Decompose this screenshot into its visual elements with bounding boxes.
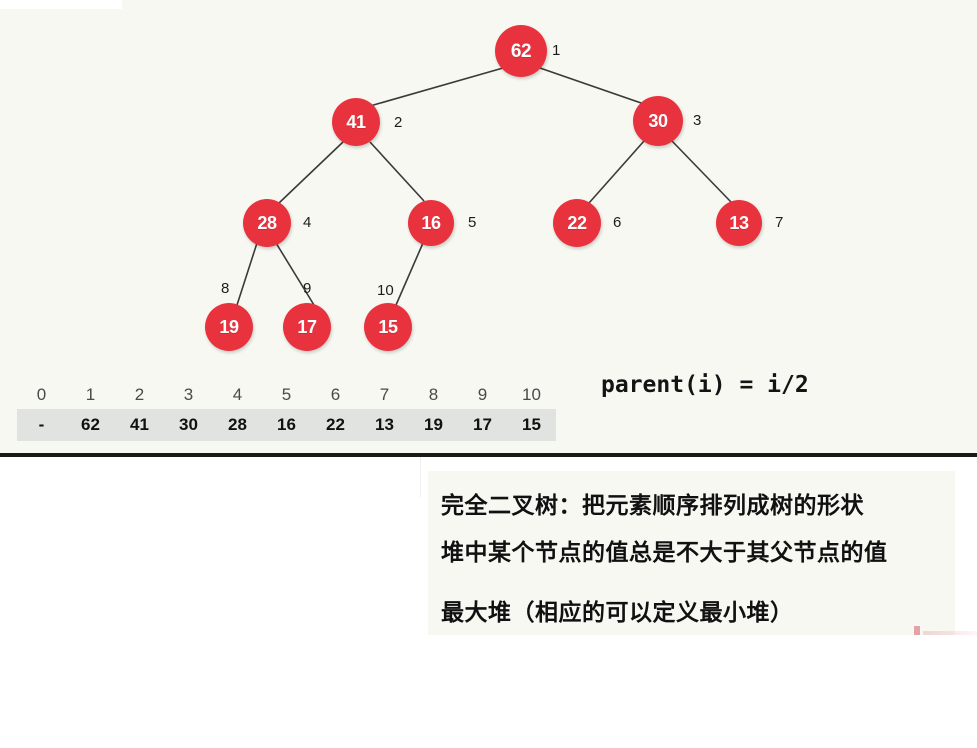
- array-index-cell: 2: [115, 385, 164, 405]
- tree-edge: [672, 141, 731, 202]
- tree-node-index-label: 10: [377, 282, 394, 299]
- note-line-max-heap: 最大堆（相应的可以定义最小堆）: [441, 593, 794, 627]
- tree-node-index-label: 2: [394, 114, 402, 131]
- array-value-cell: 30: [164, 415, 213, 435]
- tree-node: 19: [205, 303, 253, 351]
- tree-node-index-label: 3: [693, 112, 701, 129]
- tree-node-value: 28: [257, 214, 276, 232]
- array-value-cell: 22: [311, 415, 360, 435]
- array-value-cell: 16: [262, 415, 311, 435]
- tree-node: 41: [332, 98, 380, 146]
- tree-node-index-label: 4: [303, 214, 311, 231]
- array-index-cell: 7: [360, 385, 409, 405]
- tree-node-index-label: 8: [221, 280, 229, 297]
- note-line-complete-binary-tree: 完全二叉树：把元素顺序排列成树的形状: [441, 486, 864, 520]
- array-index-cell: 8: [409, 385, 458, 405]
- array-index-cell: 10: [507, 385, 556, 405]
- tree-node-value: 15: [378, 318, 397, 336]
- tree-edge: [396, 243, 423, 305]
- binary-tree-diagram: 6214123032841652261371981791510: [0, 0, 977, 375]
- tree-edge: [540, 68, 644, 104]
- array-index-cell: 9: [458, 385, 507, 405]
- array-index-row: 012345678910: [17, 381, 556, 409]
- array-index-cell: 4: [213, 385, 262, 405]
- tree-node-value: 22: [567, 214, 586, 232]
- formula-parent: parent(i) = i/2: [601, 374, 947, 397]
- tree-node: 30: [633, 96, 683, 146]
- note-line-heap-property: 堆中某个节点的值总是不大于其父节点的值: [441, 533, 888, 567]
- tree-edge: [237, 243, 257, 305]
- tree-node-value: 30: [648, 112, 667, 130]
- array-index-cell: 1: [66, 385, 115, 405]
- tree-node-value: 62: [511, 42, 531, 61]
- array-value-cell: 28: [213, 415, 262, 435]
- tree-edge: [589, 141, 644, 203]
- tree-node: 16: [408, 200, 454, 246]
- array-index-cell: 5: [262, 385, 311, 405]
- faint-smudge-mark: [923, 631, 977, 635]
- tree-node-index-label: 1: [552, 42, 560, 59]
- array-value-cell: 15: [507, 415, 556, 435]
- tree-edge: [370, 142, 424, 201]
- tree-node-value: 19: [219, 318, 238, 336]
- slide-region: 6214123032841652261371981791510 01234567…: [0, 0, 977, 455]
- tree-node-index-label: 7: [775, 214, 783, 231]
- array-value-row: -62413028162213191715: [17, 409, 556, 441]
- tree-edge: [279, 142, 343, 203]
- tree-node-value: 16: [421, 214, 440, 232]
- array-value-cell: 19: [409, 415, 458, 435]
- note-divider: [420, 457, 421, 497]
- tree-node-value: 13: [729, 214, 748, 232]
- definition-note-box: 完全二叉树：把元素顺序排列成树的形状 堆中某个节点的值总是不大于其父节点的值 最…: [428, 471, 955, 635]
- tree-node: 15: [364, 303, 412, 351]
- tree-node-value: 41: [346, 113, 365, 131]
- tree-node: 17: [283, 303, 331, 351]
- tree-node-index-label: 9: [303, 280, 311, 297]
- tree-node: 28: [243, 199, 291, 247]
- array-value-cell: 62: [66, 415, 115, 435]
- note-region: 完全二叉树：把元素顺序排列成树的形状 堆中某个节点的值总是不大于其父节点的值 最…: [0, 457, 977, 748]
- array-index-cell: 6: [311, 385, 360, 405]
- tree-node: 13: [716, 200, 762, 246]
- red-annotation-mark: [914, 626, 920, 635]
- array-representation-table: 012345678910 -62413028162213191715: [17, 381, 556, 441]
- array-value-cell: -: [17, 415, 66, 435]
- array-value-cell: 17: [458, 415, 507, 435]
- tree-edges-layer: [0, 0, 977, 375]
- tree-node: 22: [553, 199, 601, 247]
- array-index-cell: 3: [164, 385, 213, 405]
- array-index-cell: 0: [17, 385, 66, 405]
- tree-edge: [370, 68, 503, 106]
- tree-node-index-label: 6: [613, 214, 621, 231]
- tree-node: 62: [495, 25, 547, 77]
- tree-node-index-label: 5: [468, 214, 476, 231]
- array-value-cell: 13: [360, 415, 409, 435]
- tree-node-value: 17: [297, 318, 316, 336]
- array-value-cell: 41: [115, 415, 164, 435]
